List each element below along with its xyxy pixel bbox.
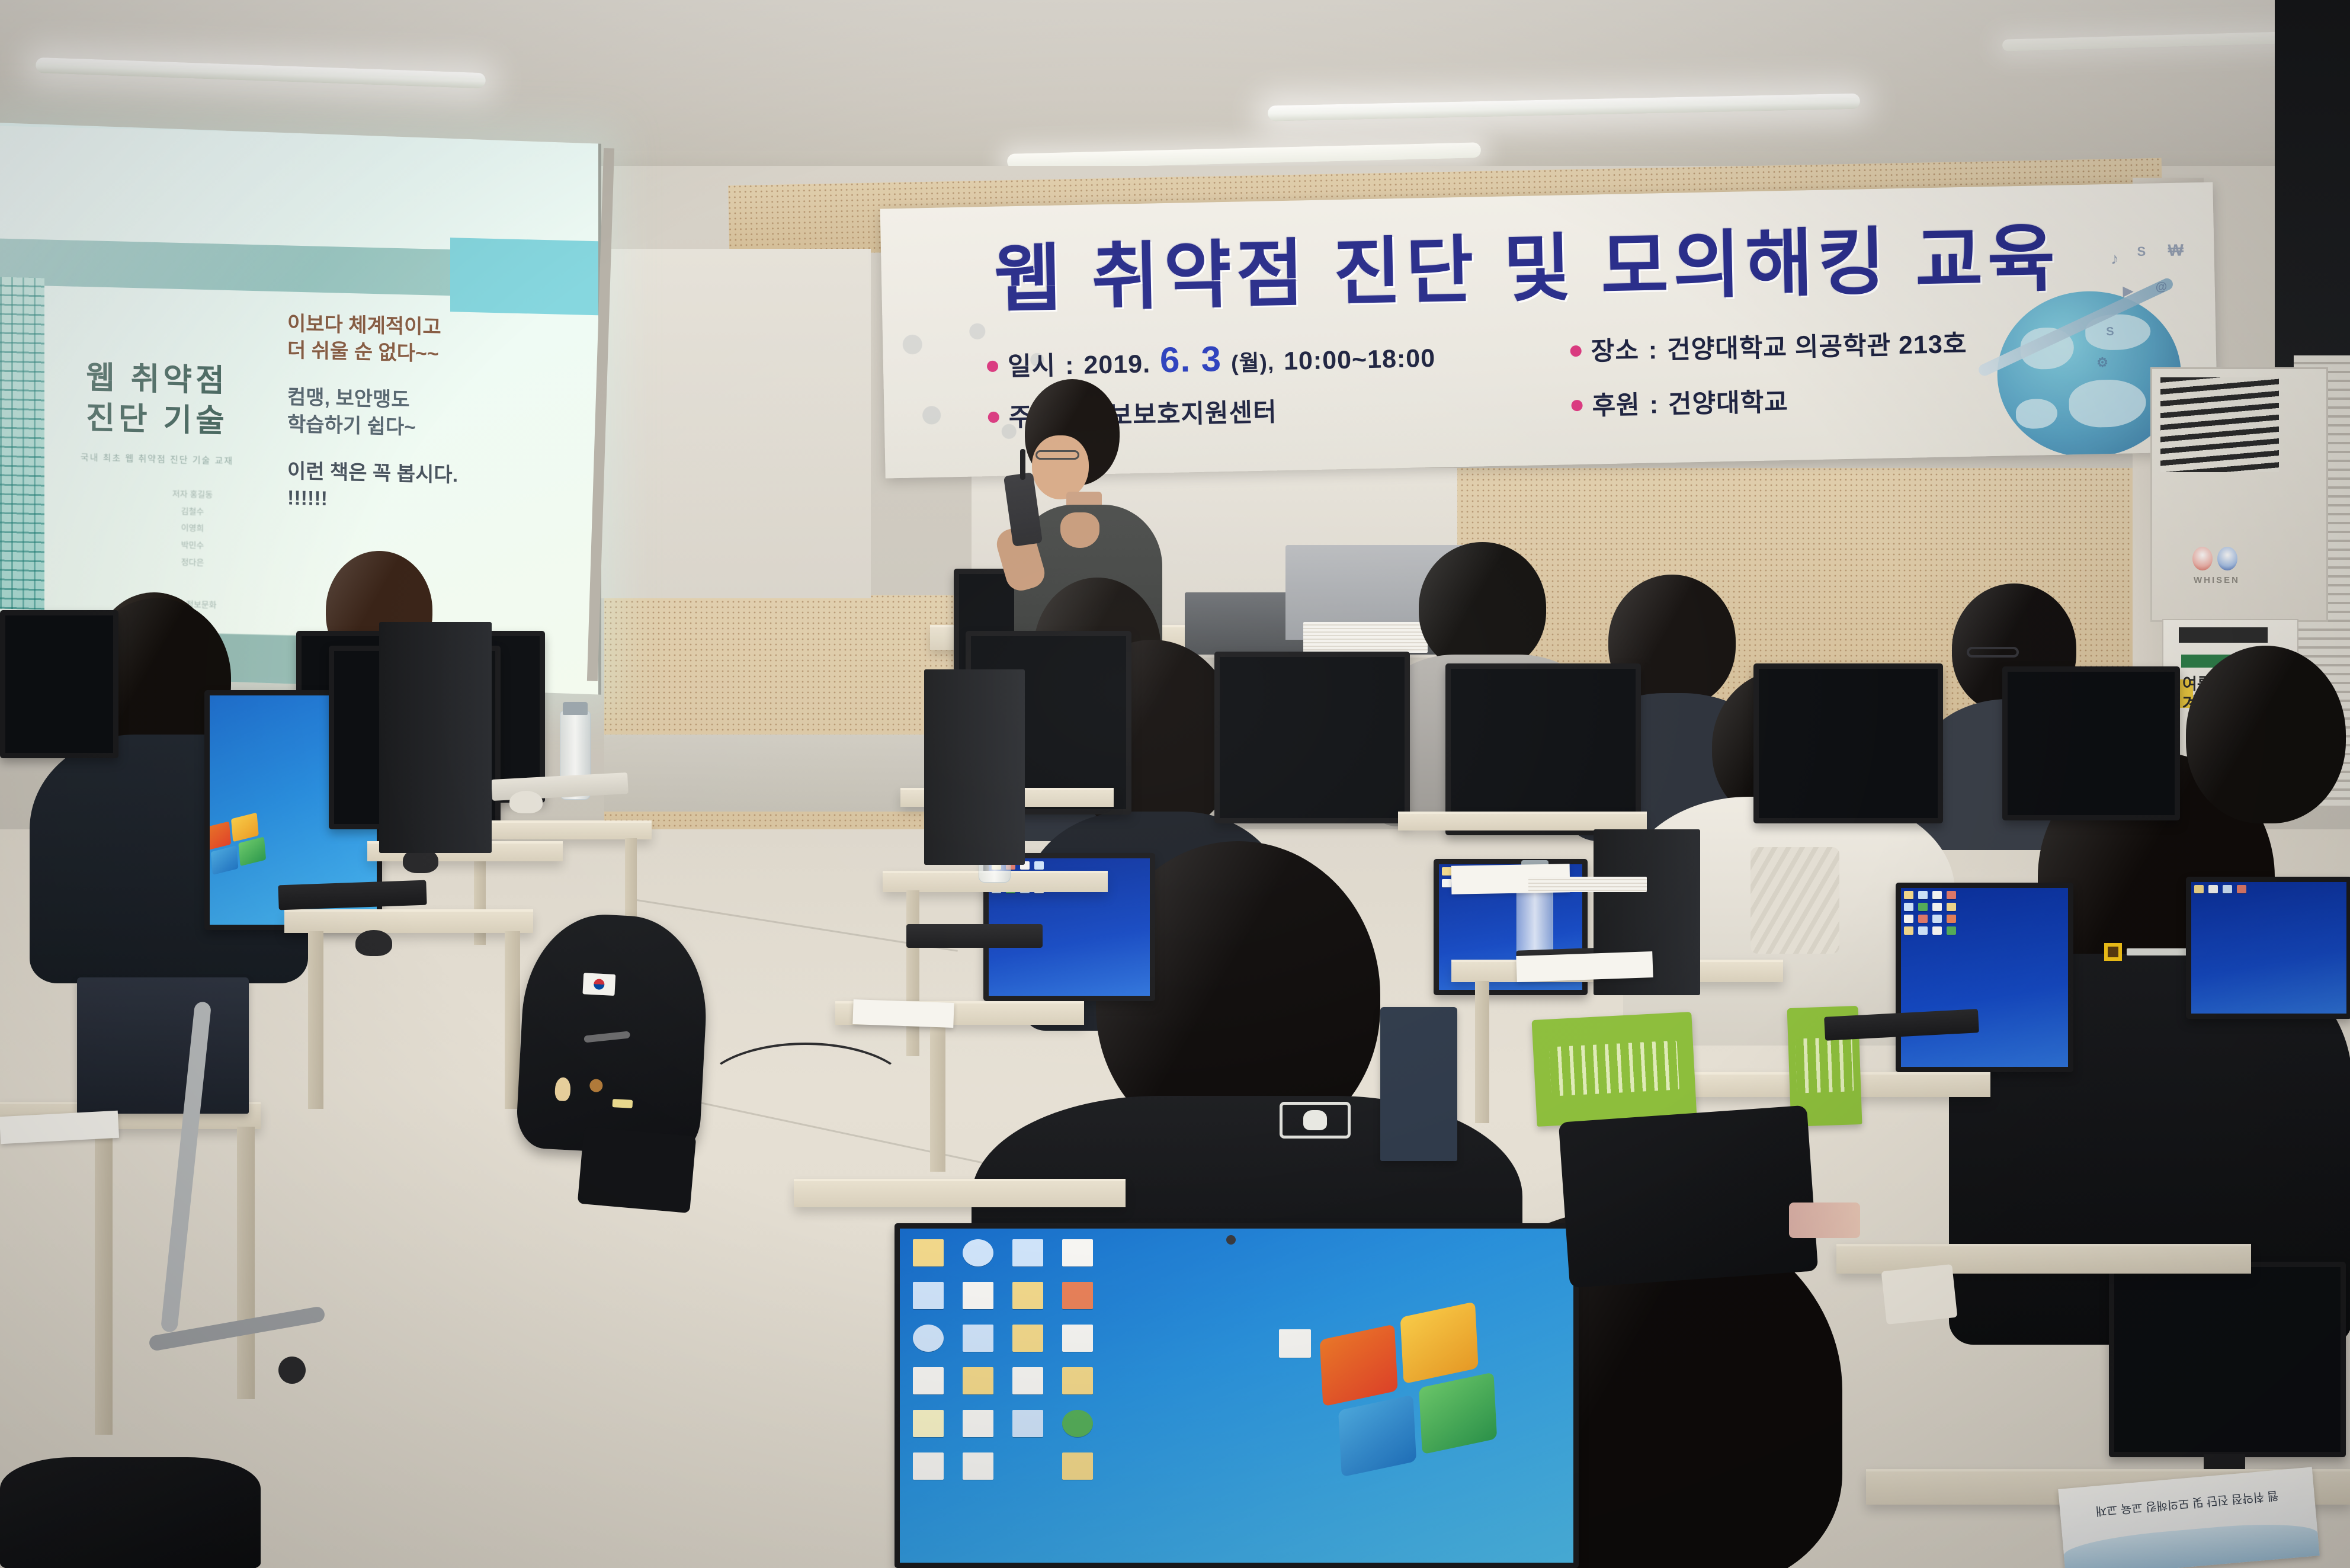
attendee-head bbox=[1419, 542, 1546, 672]
windows7-logo-icon bbox=[1315, 1278, 1573, 1563]
author-3: 이영희 bbox=[136, 519, 249, 538]
chair-green-1[interactable] bbox=[1531, 1012, 1697, 1127]
desk-leg bbox=[906, 890, 919, 1056]
monitor-back-left-1[interactable] bbox=[0, 610, 118, 758]
slide-book-title: 웹 취약점 진단 기술 bbox=[59, 357, 255, 442]
desk-leg bbox=[95, 1127, 113, 1435]
bullet-icon-sponsor bbox=[1571, 400, 1582, 411]
attendee-head bbox=[2186, 646, 2346, 823]
banner-day: (월), bbox=[1231, 344, 1275, 377]
monitor-right-back-1[interactable] bbox=[1753, 663, 1943, 823]
desktop-icon-grid[interactable] bbox=[1904, 891, 1956, 935]
slide-book-title-line-2: 진단 기술 bbox=[59, 397, 255, 442]
slide-book-authors: 저자 홍길동 김철수 이영희 박민수 정다은 bbox=[136, 485, 249, 572]
monitor-right-edge-1[interactable] bbox=[2186, 877, 2350, 1019]
air-conditioner: WHISEN bbox=[2150, 367, 2328, 622]
korean-flag-patch-icon bbox=[582, 973, 615, 996]
desktop-icon-grid[interactable] bbox=[2194, 885, 2246, 893]
chair-back-slots bbox=[1795, 1037, 1854, 1093]
backpack-zipper[interactable] bbox=[584, 1031, 630, 1043]
desk-right-back bbox=[1398, 812, 1647, 831]
pc-tower-center[interactable] bbox=[924, 669, 1025, 865]
slide-book-subtitle: 국내 최초 웹 취약점 진단 기술 교재 bbox=[53, 450, 261, 468]
monitor-foreground[interactable] bbox=[895, 1223, 1579, 1568]
desk-center-lower bbox=[794, 1179, 1126, 1207]
bag-foreground bbox=[0, 1457, 261, 1568]
mlb-logo-icon bbox=[1280, 1102, 1351, 1139]
presenter-vneck-skin bbox=[1060, 512, 1099, 548]
backpack-tag-icon bbox=[613, 1099, 633, 1108]
slide-note-6: !!!!!! bbox=[287, 485, 536, 518]
attendee-shirt-pattern bbox=[1751, 847, 1839, 954]
attendee-right-edge bbox=[2168, 646, 2350, 894]
monitor-screen bbox=[2008, 672, 2175, 815]
slide-notes: 이보다 체계적이고 더 쉬울 순 없다~~ 컴맹, 보안맹도 학습하기 쉽다~ … bbox=[287, 310, 536, 518]
jacket-on-chair bbox=[1559, 1105, 1819, 1288]
colorful-pouch bbox=[1789, 1203, 1860, 1238]
ac-badge-heat-icon bbox=[2192, 547, 2213, 570]
author-1: 저자 홍길동 bbox=[136, 485, 249, 504]
desk-leg bbox=[308, 931, 323, 1109]
slide-circuit-graphic bbox=[0, 277, 44, 610]
banner-row-sponsor: 후원 : 건양대학교 bbox=[1571, 381, 1788, 422]
monitor-screen bbox=[1759, 669, 1938, 818]
booklet-bottom-title: 웹 취약점 진단 및 모의해킹 교육 교재 bbox=[2080, 1484, 2294, 1521]
presenter-glasses-icon bbox=[1035, 450, 1079, 460]
lecture-room-photo: 웹 취약점 진단 기술 국내 최초 웹 취약점 진단 기술 교재 저자 홍길동 … bbox=[0, 0, 2350, 1568]
slide-header-band bbox=[0, 239, 450, 296]
banner-row-place: 장소 : 건양대학교 의공학관 213호 bbox=[1570, 323, 1967, 368]
keyboard-center[interactable] bbox=[906, 924, 1043, 948]
desk-leg bbox=[1475, 981, 1489, 1123]
banner-sep-place: : bbox=[1648, 336, 1657, 365]
hand-holding-paper bbox=[1881, 1264, 1958, 1325]
author-5: 정다은 bbox=[136, 553, 249, 572]
banner-value-place: 건양대학교 의공학관 213호 bbox=[1666, 323, 1967, 366]
webcam-icon bbox=[1226, 1235, 1236, 1245]
bullet-icon-date bbox=[987, 361, 998, 372]
banner-sep-sponsor: : bbox=[1649, 390, 1659, 419]
author-4: 박민수 bbox=[136, 536, 249, 555]
chair-caster-icon bbox=[278, 1357, 306, 1384]
banner-title: 웹 취약점 진단 및 모의해킹 교육 bbox=[993, 198, 2061, 326]
banner-time: 10:00~18:00 bbox=[1284, 344, 1436, 376]
slide-header-band-accent bbox=[450, 238, 601, 315]
pc-tower-left[interactable] bbox=[379, 622, 492, 853]
chair-back-slots bbox=[1549, 1040, 1679, 1096]
microphone-antenna-icon bbox=[1020, 449, 1025, 480]
monitor-screen bbox=[2191, 882, 2346, 1014]
monitor-right-back-2[interactable] bbox=[2002, 666, 2180, 820]
air-conditioner-vent bbox=[2160, 377, 2279, 472]
banner-year: 2019. bbox=[1083, 350, 1151, 380]
windows-logo-icon bbox=[210, 814, 271, 879]
monitor-right-edge-2[interactable] bbox=[2109, 1262, 2346, 1457]
paper-center-desk[interactable] bbox=[852, 999, 954, 1028]
bullet-icon-place bbox=[1570, 345, 1582, 357]
wall-white-upper bbox=[592, 249, 871, 598]
bottle-cap-left bbox=[563, 702, 588, 715]
backpack[interactable] bbox=[515, 910, 711, 1157]
monitor-screen bbox=[1451, 669, 1636, 830]
control-panel-display bbox=[2179, 627, 2268, 643]
author-2: 김철수 bbox=[136, 502, 249, 521]
banner-label-place: 장소 bbox=[1591, 330, 1639, 368]
keyboard-left[interactable] bbox=[278, 880, 427, 910]
monitor-foreground-screen bbox=[900, 1229, 1573, 1563]
desktop-icon-grid-foreground[interactable] bbox=[913, 1239, 1093, 1480]
desktop-icon-single[interactable] bbox=[1279, 1329, 1311, 1358]
desk-leg bbox=[237, 1127, 255, 1399]
banner-label-sponsor: 후원 bbox=[1592, 384, 1640, 422]
desk-leg bbox=[930, 1024, 945, 1172]
monitor-center-back-2[interactable] bbox=[1214, 652, 1410, 823]
attendee-glasses-icon bbox=[1967, 647, 2019, 658]
air-conditioner-badges bbox=[2192, 547, 2237, 570]
presenter-face bbox=[1032, 435, 1089, 499]
backpack-bottom bbox=[578, 1127, 697, 1213]
desk-left-front bbox=[284, 909, 533, 933]
banner-date: 6. 3 bbox=[1159, 338, 1222, 380]
chair-left-1[interactable] bbox=[77, 977, 249, 1114]
backpack-keychain-icon bbox=[554, 1077, 571, 1101]
monitor-screen bbox=[5, 615, 113, 753]
ac-badge-cool-icon bbox=[2217, 547, 2237, 570]
monitor-screen bbox=[2114, 1267, 2341, 1452]
desk-leg bbox=[505, 931, 520, 1109]
document-stack-center bbox=[1528, 877, 1647, 892]
slide-book-title-line-1: 웹 취약점 bbox=[59, 357, 255, 402]
monitor-right-mid-icons[interactable] bbox=[1896, 883, 2073, 1072]
mouse-back-left[interactable] bbox=[509, 791, 543, 813]
banner-label-date: 일시 bbox=[1007, 345, 1056, 383]
monitor-center-back-3[interactable] bbox=[1445, 663, 1641, 835]
chair-dark-1[interactable] bbox=[1380, 1007, 1457, 1161]
banner-value-sponsor: 건양대학교 bbox=[1668, 381, 1788, 421]
banner-sep-date: : bbox=[1065, 351, 1075, 380]
monitor-screen bbox=[1901, 888, 2068, 1067]
backpack-button-icon bbox=[589, 1079, 603, 1092]
taegeuk-icon bbox=[594, 979, 605, 990]
banner-row-date: 일시 : 2019. 6. 3 (월), 10:00~18:00 bbox=[986, 334, 1435, 384]
paper-right-desk-2[interactable] bbox=[1516, 951, 1653, 982]
floor-cable bbox=[699, 1043, 912, 1143]
air-conditioner-brand: WHISEN bbox=[2194, 575, 2240, 585]
monitor-screen bbox=[1220, 657, 1405, 818]
mouse-left[interactable] bbox=[355, 930, 392, 956]
